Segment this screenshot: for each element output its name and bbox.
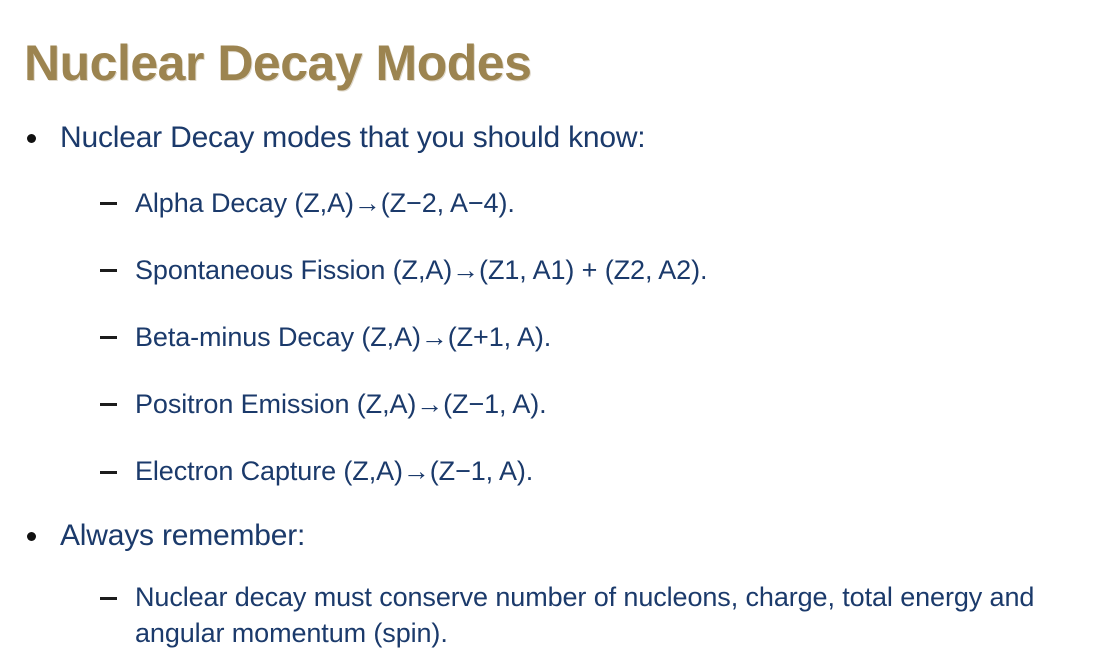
- sub-bullet-label: Spontaneous Fission (Z,A)→(Z1, A1) + (Z2…: [135, 253, 1118, 288]
- sub-bullet-label: Beta-minus Decay (Z,A)→(Z+1, A).: [135, 320, 1118, 355]
- bullet-label: Nuclear Decay modes that you should know…: [60, 118, 1118, 158]
- slide-canvas: Nuclear Decay Modes Nuclear Decay modes …: [0, 0, 1118, 663]
- dash-marker-icon: [100, 471, 117, 474]
- sub-bullet-label: Nuclear decay must conserve number of nu…: [135, 580, 1118, 650]
- sub-bullet-alpha-decay: Alpha Decay (Z,A)→(Z−2, A−4).: [0, 186, 1118, 221]
- sub-bullet-conservation-rule: Nuclear decay must conserve number of nu…: [0, 580, 1118, 650]
- dash-marker-icon: [100, 336, 117, 339]
- sub-bullet-electron-capture: Electron Capture (Z,A)→(Z−1, A).: [0, 454, 1118, 489]
- sub-bullet-label: Alpha Decay (Z,A)→(Z−2, A−4).: [135, 186, 1118, 221]
- dash-marker-icon: [100, 269, 117, 272]
- sub-bullet-label: Positron Emission (Z,A)→(Z−1, A).: [135, 387, 1118, 422]
- dash-marker-icon: [100, 597, 117, 600]
- dash-marker-icon: [100, 403, 117, 406]
- dash-marker-icon: [100, 202, 117, 205]
- bullet-item-always-remember: Always remember:: [0, 516, 1118, 558]
- bullet-dot-icon: [27, 134, 36, 143]
- slide-body: Nuclear Decay modes that you should know…: [0, 118, 1118, 651]
- page-title: Nuclear Decay Modes: [24, 36, 531, 91]
- sub-bullet-label: Electron Capture (Z,A)→(Z−1, A).: [135, 454, 1118, 489]
- bullet-label: Always remember:: [60, 516, 1118, 556]
- sub-bullet-spontaneous-fission: Spontaneous Fission (Z,A)→(Z1, A1) + (Z2…: [0, 253, 1118, 288]
- sub-bullet-positron-emission: Positron Emission (Z,A)→(Z−1, A).: [0, 387, 1118, 422]
- bullet-dot-icon: [27, 532, 36, 541]
- bullet-item-decay-modes: Nuclear Decay modes that you should know…: [0, 118, 1118, 160]
- sub-bullet-beta-minus-decay: Beta-minus Decay (Z,A)→(Z+1, A).: [0, 320, 1118, 355]
